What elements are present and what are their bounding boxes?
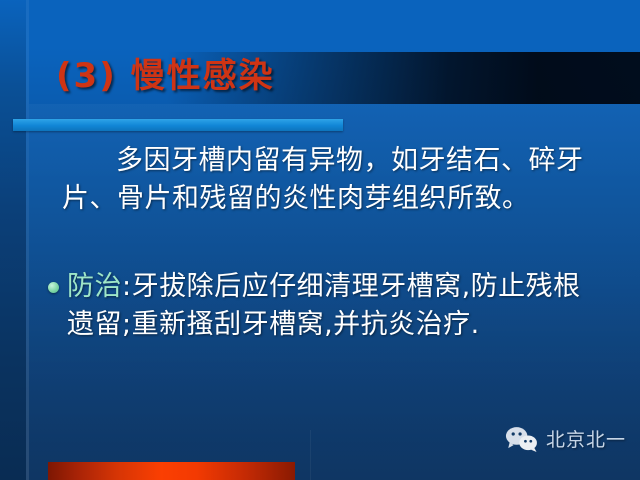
- bullet-keyword: 防治: [67, 271, 122, 302]
- bullet-list: 防治:牙拔除后应仔细清理牙槽窝,防止残根遗留;重新搔刮牙槽窝,并抗炎治疗.: [48, 268, 608, 344]
- body-paragraph: 多因牙槽内留有异物，如牙结石、碎牙片、骨片和残留的炎性肉芽组织所致。: [62, 142, 592, 218]
- title-underline-bar: [13, 119, 343, 131]
- wechat-icon: [505, 426, 539, 452]
- bullet-dot-icon: [48, 282, 59, 293]
- bullet-body: :牙拔除后应仔细清理牙槽窝,防止残根遗留;重新搔刮牙槽窝,并抗炎治疗.: [67, 271, 581, 340]
- watermark-label: 北京北一: [546, 425, 626, 452]
- watermark: 北京北一: [505, 425, 626, 452]
- bottom-accent-bar: [48, 462, 295, 480]
- slide-title: (3) 慢性感染: [56, 58, 275, 95]
- list-item: 防治:牙拔除后应仔细清理牙槽窝,防止残根遗留;重新搔刮牙槽窝,并抗炎治疗.: [48, 268, 608, 344]
- background-seam: [310, 430, 311, 480]
- bullet-item-text: 防治:牙拔除后应仔细清理牙槽窝,防止残根遗留;重新搔刮牙槽窝,并抗炎治疗.: [67, 268, 608, 344]
- presentation-slide: (3) 慢性感染 多因牙槽内留有异物，如牙结石、碎牙片、骨片和残留的炎性肉芽组织…: [0, 0, 640, 480]
